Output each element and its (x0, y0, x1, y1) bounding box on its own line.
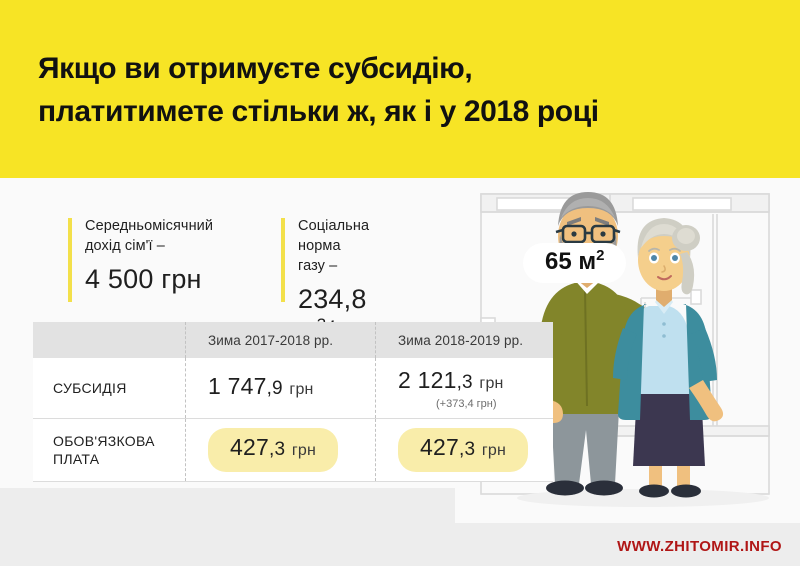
table-cell-value: 427,3 грн (230, 434, 316, 460)
table-cell-delta-note: (+373,4 грн) (436, 398, 553, 410)
table-cell-payment-2017-2018: 427,3 грн (185, 419, 375, 481)
table-header-row: Зима 2017-2018 рр. Зима 2018-2019 рр. (33, 322, 553, 358)
table-row-label: СУБСИДІЯ (53, 379, 185, 397)
table-row-label-cell: СУБСИДІЯ (33, 358, 185, 418)
value-decimal: ,3 (269, 439, 285, 460)
highlight-pill: 427,3 грн (398, 428, 528, 472)
table-cell-value: 1 747,9 грн (208, 373, 375, 403)
value-integer: 427 (230, 434, 269, 460)
value-integer: 1 747 (208, 373, 267, 399)
value-decimal: ,3 (457, 372, 473, 393)
page-title: Якщо ви отримуєте субсидію, платитимете … (38, 47, 758, 133)
table-cell-value: 2 121,3 грн (398, 367, 553, 397)
table-row-label: ОБОВ'ЯЗКОВА ПЛАТА (53, 432, 185, 468)
value-unit: грн (479, 375, 503, 392)
stat-monthly-income: Середньомісячний дохід сім'ї – 4 500 грн (68, 216, 213, 295)
stat-label: Соціальна норма газу – (298, 216, 369, 276)
site-url[interactable]: WWW.ZHITOMIR.INFO (617, 538, 782, 555)
area-badge-value: 65 м (545, 248, 596, 275)
value-unit: грн (482, 442, 506, 459)
headline-band: Якщо ви отримуєте субсидію, платитимете … (0, 0, 800, 178)
table-cell-subsidy-2017-2018: 1 747,9 грн (185, 358, 375, 418)
table-cell-payment-2018-2019: 427,3 грн (375, 419, 553, 481)
comparison-table: Зима 2017-2018 рр. Зима 2018-2019 рр. СУ… (33, 322, 553, 482)
value-unit: грн (292, 442, 316, 459)
table-header-cell-winter-2018-2019: Зима 2018-2019 рр. (375, 322, 553, 358)
table-header-label: Зима 2018-2019 рр. (398, 333, 553, 348)
table-cell-subsidy-2018-2019: 2 121,3 грн (+373,4 грн) (375, 358, 553, 418)
highlight-pill: 427,3 грн (208, 428, 338, 472)
value-integer: 427 (420, 434, 459, 460)
infographic-poster: Якщо ви отримуєте субсидію, платитимете … (0, 0, 800, 566)
value-decimal: ,9 (267, 378, 283, 399)
stat-label: Середньомісячний дохід сім'ї – (85, 216, 213, 256)
table-header-cell-empty (33, 322, 185, 358)
table-header-cell-winter-2017-2018: Зима 2017-2018 рр. (185, 322, 375, 358)
table-row-subsidy: СУБСИДІЯ 1 747,9 грн 2 121,3 грн (+373,4… (33, 358, 553, 419)
value-integer: 2 121 (398, 367, 457, 393)
table-row-mandatory-payment: ОБОВ'ЯЗКОВА ПЛАТА 427,3 грн 427,3 грн (33, 419, 553, 482)
table-row-label-cell: ОБОВ'ЯЗКОВА ПЛАТА (33, 419, 185, 481)
area-badge: 65 м2 (523, 243, 626, 283)
stat-value: 4 500 грн (85, 263, 213, 295)
area-badge-superscript: 2 (596, 247, 604, 264)
value-unit: грн (289, 381, 313, 398)
table-cell-value: 427,3 грн (420, 434, 506, 460)
value-decimal: ,3 (459, 439, 475, 460)
table-header-label: Зима 2017-2018 рр. (208, 333, 375, 348)
